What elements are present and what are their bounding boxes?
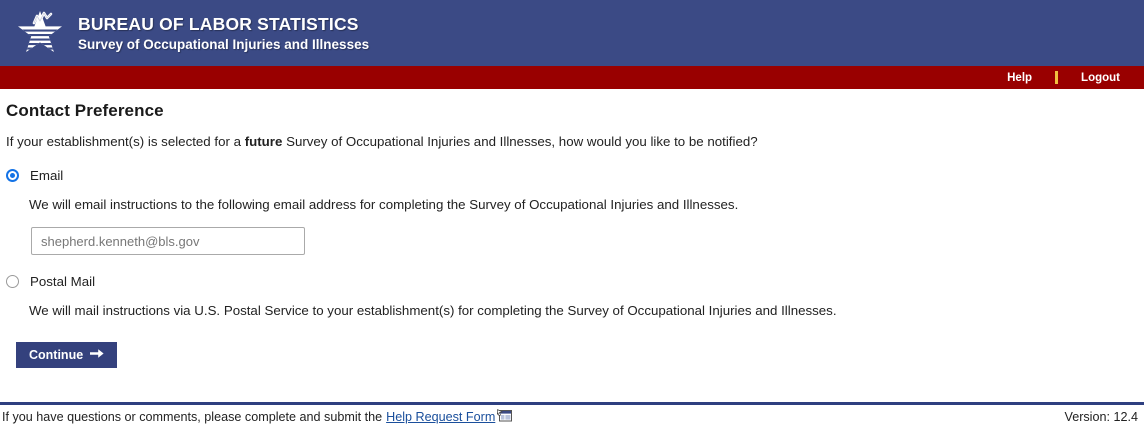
option-email-label: Email: [30, 168, 63, 183]
option-postal-mail[interactable]: Postal Mail: [6, 274, 1144, 289]
option-email[interactable]: Email: [6, 168, 1144, 183]
intro-text: If your establishment(s) is selected for…: [6, 134, 1144, 149]
radio-postal-mail[interactable]: [6, 275, 19, 288]
logout-link[interactable]: Logout: [1077, 72, 1124, 84]
organization-name: BUREAU OF LABOR STATISTICS: [78, 14, 369, 34]
help-link[interactable]: Help: [1003, 72, 1036, 84]
option-postal-mail-description: We will mail instructions via U.S. Posta…: [29, 303, 1144, 318]
continue-button-label: Continue: [29, 348, 83, 362]
option-postal-mail-label: Postal Mail: [30, 274, 95, 289]
footer-help-text: If you have questions or comments, pleas…: [2, 409, 512, 425]
intro-emphasis: future: [245, 134, 283, 149]
help-request-form-link[interactable]: Help Request Form: [386, 410, 495, 424]
radio-email[interactable]: [6, 169, 19, 182]
survey-name: Survey of Occupational Injuries and Illn…: [78, 37, 369, 53]
new-window-icon: [497, 409, 512, 425]
nav-separator: [1055, 71, 1058, 84]
intro-suffix: Survey of Occupational Injuries and Illn…: [282, 134, 757, 149]
email-input[interactable]: [31, 227, 305, 255]
intro-prefix: If your establishment(s) is selected for…: [6, 134, 245, 149]
option-email-description: We will email instructions to the follow…: [29, 197, 1144, 212]
bls-star-chart-logo-icon: [16, 9, 64, 57]
page-title: Contact Preference: [6, 101, 1144, 121]
version-label: Version: 12.4: [1064, 410, 1140, 424]
utility-nav-bar: Help Logout: [0, 66, 1144, 89]
site-header: BUREAU OF LABOR STATISTICS Survey of Occ…: [0, 0, 1144, 66]
footer-help-prefix: If you have questions or comments, pleas…: [2, 410, 382, 424]
arrow-right-icon: [90, 348, 104, 362]
continue-button[interactable]: Continue: [16, 342, 117, 368]
main-content: Contact Preference If your establishment…: [0, 89, 1144, 368]
page-footer: If you have questions or comments, pleas…: [0, 402, 1144, 425]
